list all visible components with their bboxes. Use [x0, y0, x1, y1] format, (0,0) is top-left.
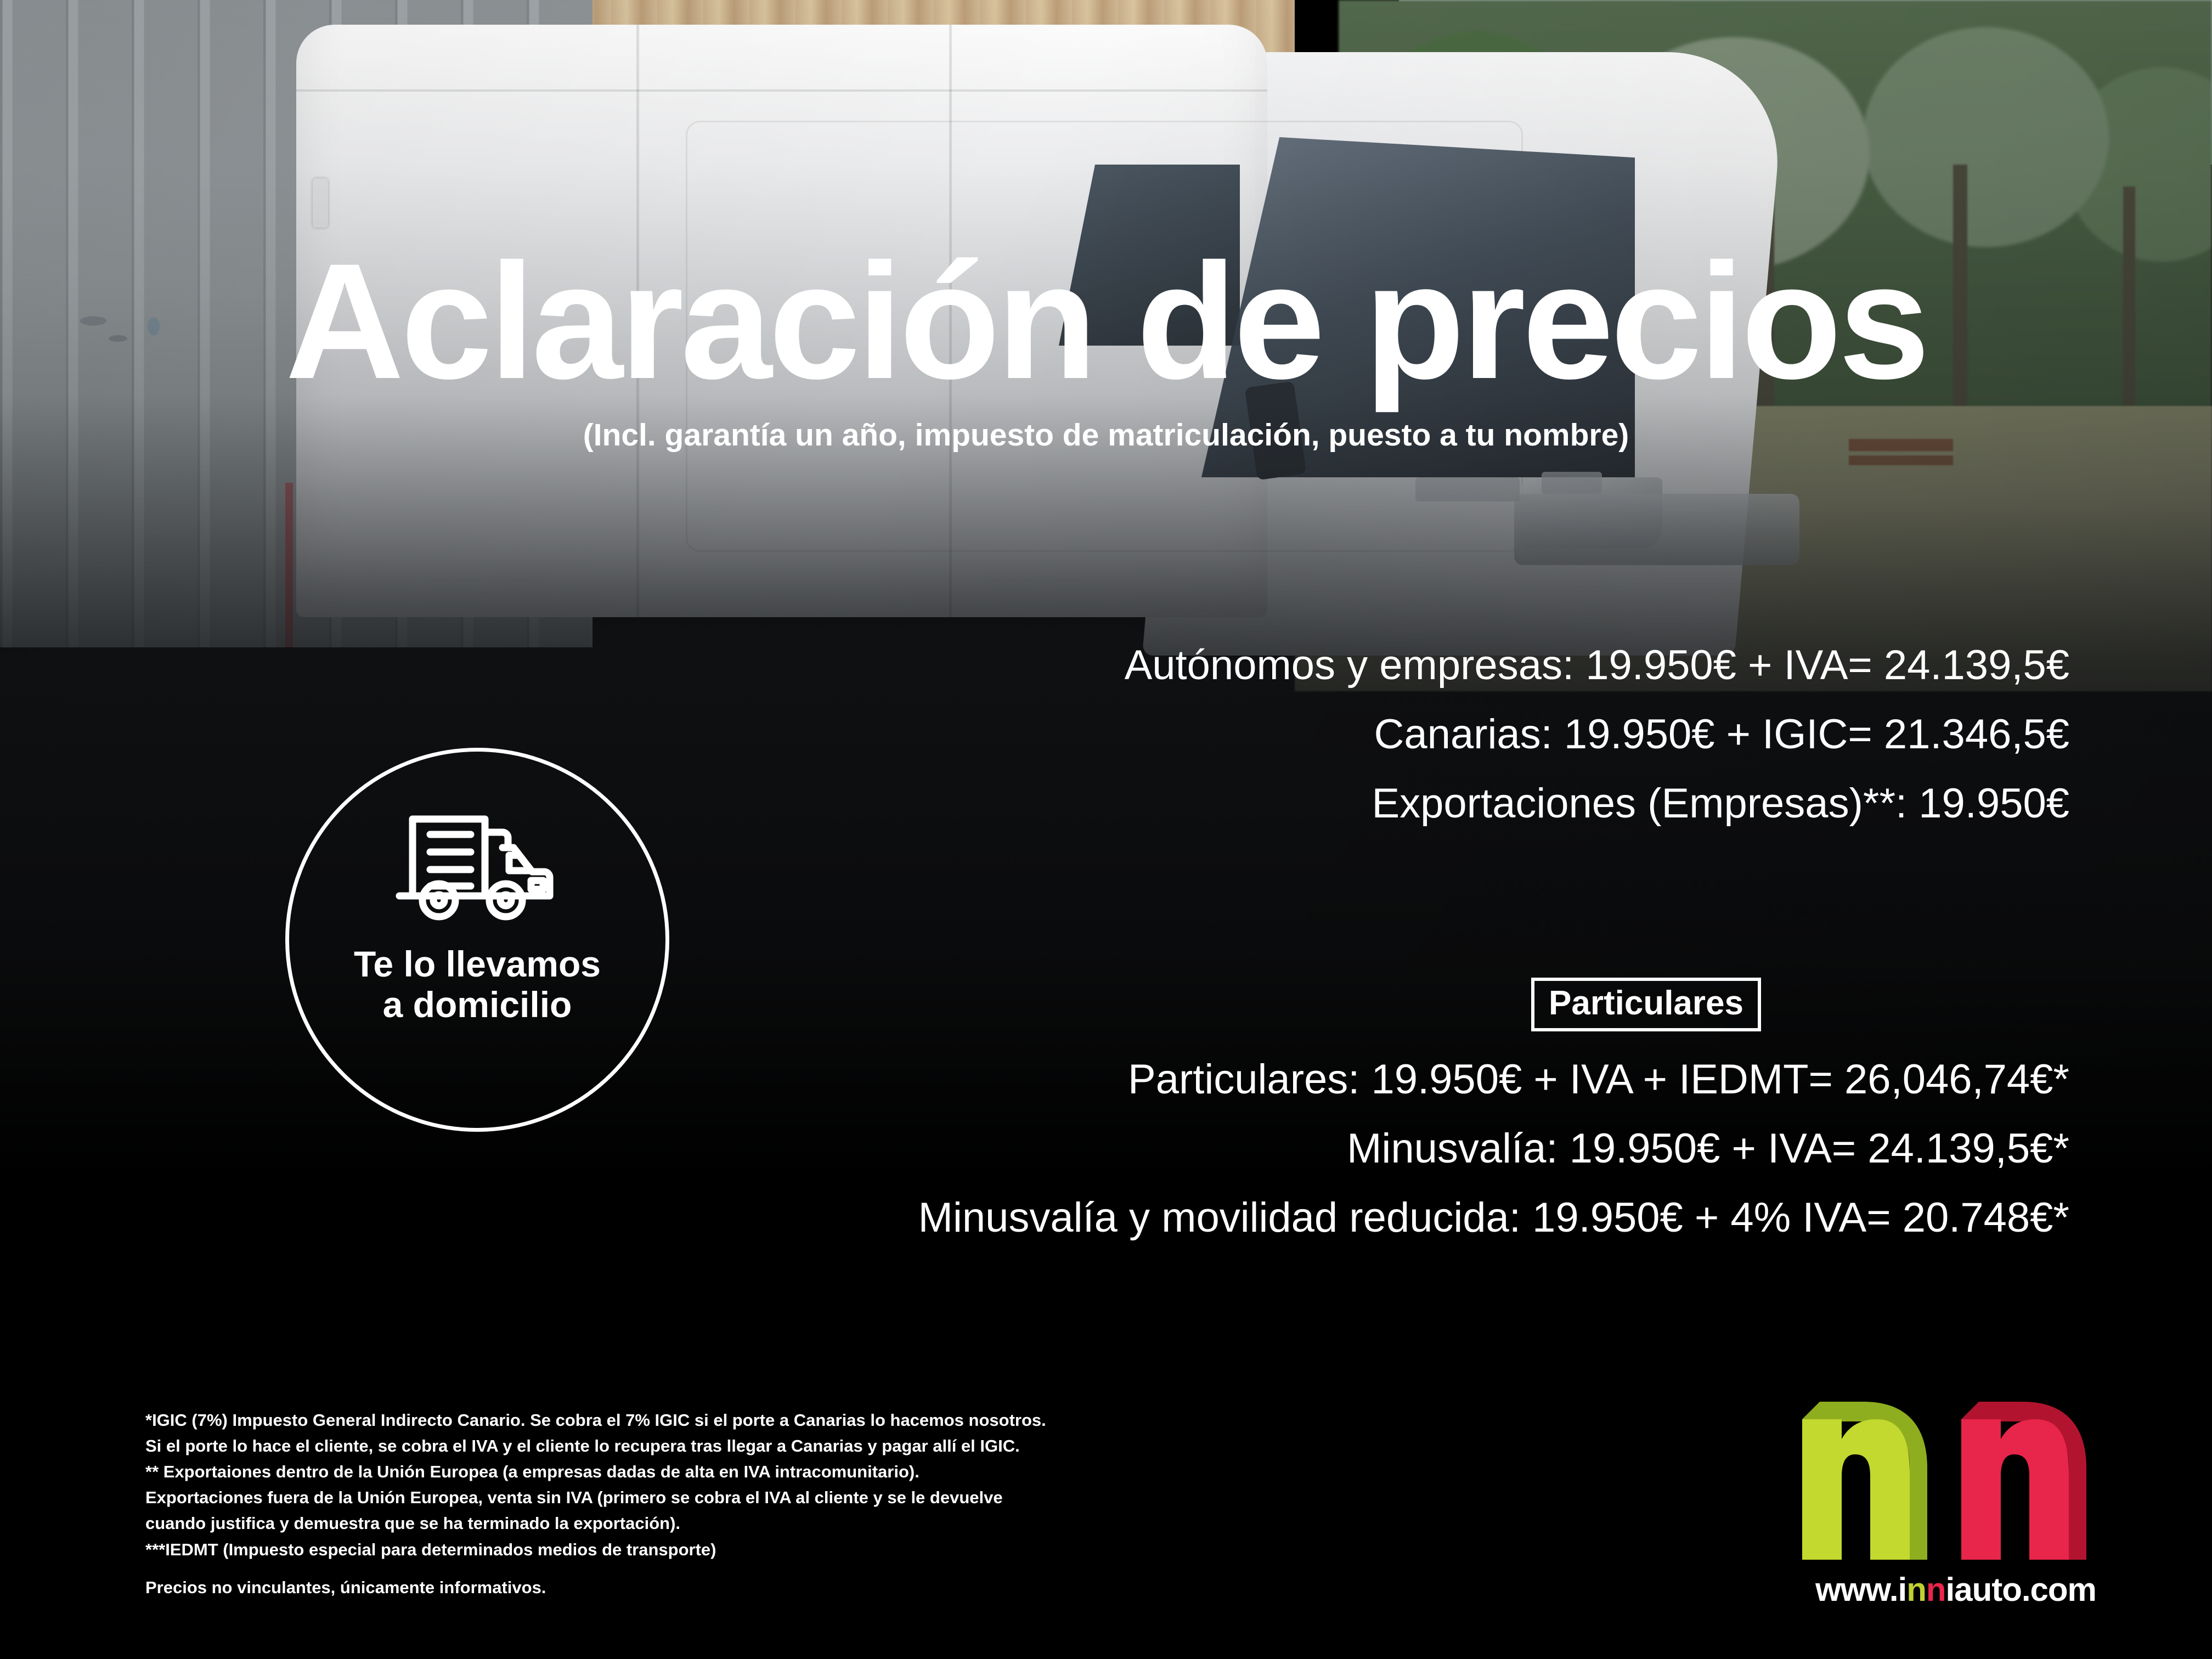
- double-n-logo-icon: [1780, 1385, 2131, 1566]
- price-row: Canarias: 19.950€ + IGIC= 21.346,5€: [533, 714, 2069, 755]
- footnote-line: cuando justifica y demuestra que se ha t…: [145, 1510, 1046, 1536]
- business-price-list: Autónomos y empresas: 19.950€ + IVA= 24.…: [533, 645, 2069, 852]
- price-row: Particulares: 19.950€ + IVA + IEDMT= 26,…: [424, 1059, 2069, 1101]
- poster-canvas: Aclaración de precios (Incl. garantía un…: [0, 0, 2212, 1659]
- price-row: Exportaciones (Empresas)**: 19.950€: [533, 783, 2069, 825]
- particulares-heading: Particulares: [1531, 978, 1761, 1031]
- disclaimer-line: Precios no vinculantes, únicamente infor…: [145, 1575, 1046, 1600]
- delivery-badge-text: Te lo llevamos a domicilio: [354, 944, 601, 1025]
- url-prefix: www.i: [1815, 1571, 1906, 1608]
- page-title: Aclaración de precios: [0, 239, 2212, 403]
- footnote-line: Si el porte lo hace el cliente, se cobra…: [145, 1433, 1046, 1459]
- price-row: Autónomos y empresas: 19.950€ + IVA= 24.…: [533, 645, 2069, 686]
- footnote-line: *IGIC (7%) Impuesto General Indirecto Ca…: [145, 1407, 1046, 1433]
- price-row: Minusvalía y movilidad reducida: 19.950€…: [424, 1197, 2069, 1239]
- price-row: Minusvalía: 19.950€ + IVA= 24.139,5€*: [424, 1128, 2069, 1170]
- website-url[interactable]: www.inniauto.com: [1780, 1571, 2131, 1609]
- footnotes-block: *IGIC (7%) Impuesto General Indirecto Ca…: [145, 1407, 1046, 1600]
- url-suffix: iauto.com: [1946, 1571, 2096, 1608]
- particulares-badge-label: Particulares: [1531, 978, 1761, 1031]
- footnote-spacer: [145, 1562, 1046, 1575]
- delivery-badge-line1: Te lo llevamos: [354, 944, 601, 984]
- private-price-list: Particulares: 19.950€ + IVA + IEDMT= 26,…: [424, 1059, 2069, 1266]
- delivery-badge-line2: a domicilio: [383, 984, 572, 1025]
- url-n-green: n: [1906, 1571, 1926, 1608]
- brand-logo[interactable]: www.inniauto.com: [1780, 1385, 2131, 1632]
- url-n-red: n: [1926, 1571, 1946, 1608]
- footnote-line: ** Exportaiones dentro de la Unión Europ…: [145, 1459, 1046, 1485]
- page-subtitle: (Incl. garantía un año, impuesto de matr…: [0, 417, 2212, 453]
- footnote-line: ***IEDMT (Impuesto especial para determi…: [145, 1537, 1046, 1562]
- footnote-line: Exportaciones fuera de la Unión Europea,…: [145, 1485, 1046, 1510]
